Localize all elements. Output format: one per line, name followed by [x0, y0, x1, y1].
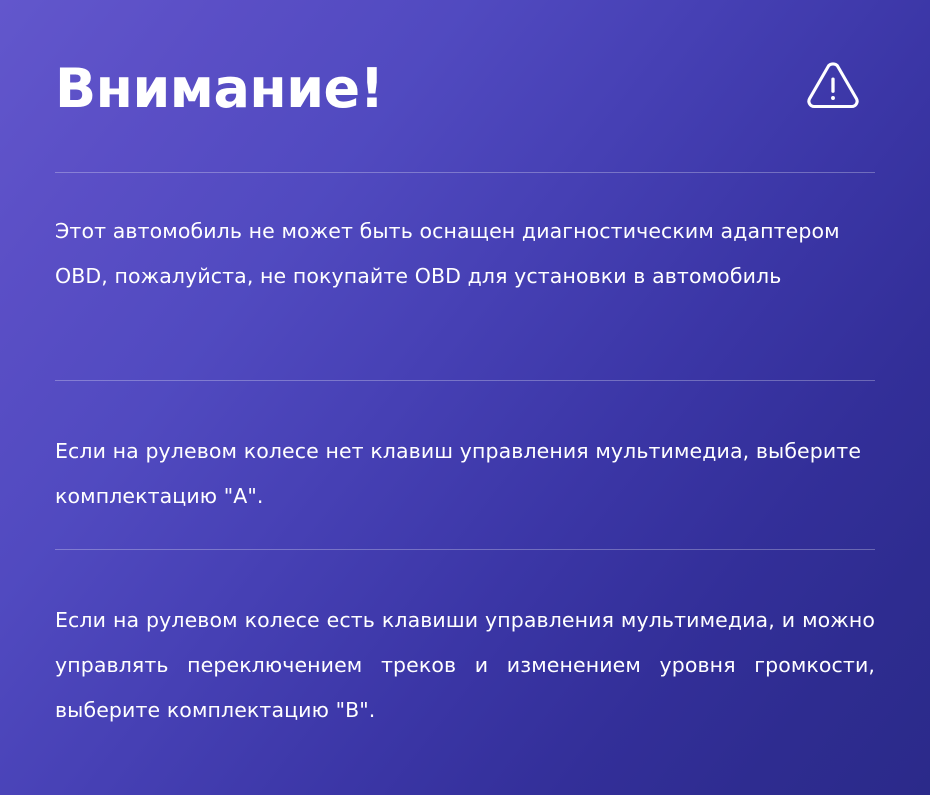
notice-header: Внимание! [55, 0, 875, 172]
page-title: Внимание! [55, 56, 384, 116]
section-text-trim-b: Если на рулевом колесе есть клавиши упра… [55, 598, 875, 733]
warning-notice-card: Внимание! Этот автомобиль не может быть … [0, 0, 930, 795]
section-obd-warning: Этот автомобиль не может быть оснащен ди… [55, 173, 875, 380]
section-text-trim-a: Если на рулевом колесе нет клавиш управл… [55, 429, 875, 519]
section-trim-a: Если на рулевом колесе нет клавиш управл… [55, 381, 875, 549]
section-trim-b: Если на рулевом колесе есть клавиши упра… [55, 550, 875, 750]
warning-triangle-icon [805, 59, 861, 115]
section-text-obd-warning: Этот автомобиль не может быть оснащен ди… [55, 209, 875, 299]
